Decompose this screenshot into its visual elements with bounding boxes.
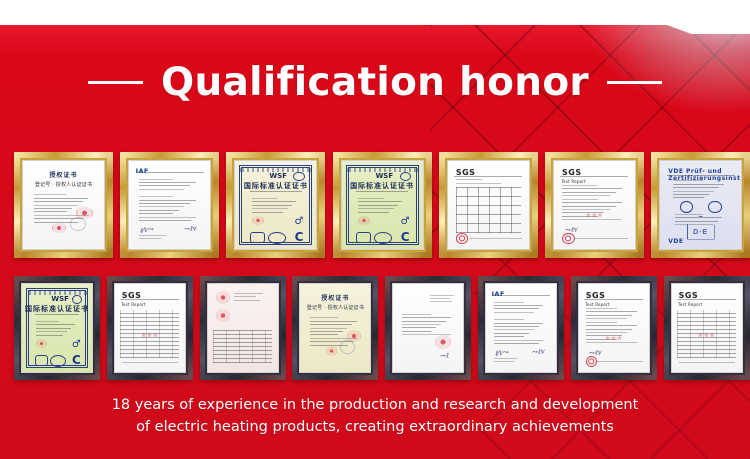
certificate-document: SGSTest Report★★★	[672, 284, 742, 372]
certificate-mat: SGS	[447, 160, 530, 250]
certificate-document	[208, 284, 278, 372]
certificate-thumbnail[interactable]: ⤳ℓ	[385, 276, 471, 380]
certificate-thumbnail[interactable]: WSF国际标准认证证书♂C	[333, 152, 432, 258]
certificate-thumbnail[interactable]: SGSTest Report★★★	[664, 276, 750, 380]
title-block: Qualification honor	[0, 55, 750, 110]
certificate-document: SGS	[448, 161, 529, 249]
certificate-document: VDE Prüf- und ZertifizierungsinstitutD⋅E…	[660, 161, 741, 249]
certificate-thumbnail[interactable]: IAFℓ⁄ᴠ⤳⤳ℓᴠ	[120, 152, 219, 258]
certificate-document: ⤳ℓ	[393, 284, 463, 372]
certificate-row-bottom: WSF国际标准认证证书♂CSGSTest Report★★★授权证书登记号 · …	[14, 276, 750, 380]
top-white-corner-cut	[570, 0, 750, 34]
certificate-document: WSF国际标准认证证书♂C	[22, 284, 92, 372]
subtitle-line-2: of electric heating products, creating e…	[0, 416, 750, 438]
certificate-thumbnail[interactable]: VDE Prüf- und ZertifizierungsinstitutD⋅E…	[651, 152, 750, 258]
certificate-document: 授权证书登记号 · 授权人认证证书	[300, 284, 370, 372]
certificate-mat: VDE Prüf- und ZertifizierungsinstitutD⋅E…	[659, 160, 742, 250]
certificate-thumbnail[interactable]: SGSTest Report★★★⤳ℓᴠ	[545, 152, 644, 258]
certificate-thumbnail[interactable]: WSF国际标准认证证书♂C	[14, 276, 100, 380]
certificate-document: WSF国际标准认证证书♂C	[235, 161, 316, 249]
certificate-mat: SGSTest Report★★★	[114, 283, 186, 373]
certificate-mat	[207, 283, 279, 373]
certificate-document: WSF国际标准认证证书♂C	[342, 161, 423, 249]
subtitle-block: 18 years of experience in the production…	[0, 394, 750, 438]
certificate-thumbnail[interactable]: SGSTest Report★★★	[107, 276, 193, 380]
certificate-thumbnail[interactable]: 授权证书登记号 · 授权人认证证书	[14, 152, 113, 258]
certificate-mat: 授权证书登记号 · 授权人认证证书	[299, 283, 371, 373]
certificate-document: SGSTest Report★★★⤳ℓᴠ	[554, 161, 635, 249]
page-title: Qualification honor	[161, 60, 589, 105]
title-rule-right	[607, 81, 662, 84]
certificate-document: 授权证书登记号 · 授权人认证证书	[23, 161, 104, 249]
certificate-mat: 授权证书登记号 · 授权人认证证书	[22, 160, 105, 250]
certificate-thumbnail[interactable]: SGS	[439, 152, 538, 258]
qualification-honor-banner: Qualification honor 授权证书登记号 · 授权人认证证书IAF…	[0, 0, 750, 459]
certificate-mat: IAFℓ⁄ᴠ⤳⤳ℓᴠ	[128, 160, 211, 250]
title-rule-left	[88, 81, 143, 84]
certificate-mat: WSF国际标准认证证书♂C	[21, 283, 93, 373]
certificate-mat: SGSTest Report★★★	[671, 283, 743, 373]
certificate-thumbnail[interactable]	[200, 276, 286, 380]
certificate-mat: WSF国际标准认证证书♂C	[234, 160, 317, 250]
certificate-thumbnail[interactable]: WSF国际标准认证证书♂C	[226, 152, 325, 258]
certificate-row-top: 授权证书登记号 · 授权人认证证书IAFℓ⁄ᴠ⤳⤳ℓᴠWSF国际标准认证证书♂C…	[14, 152, 750, 258]
certificate-document: IAFℓ⁄ᴠ⤳⤳ℓᴠ	[486, 284, 556, 372]
certificate-mat: WSF国际标准认证证书♂C	[341, 160, 424, 250]
subtitle-line-1: 18 years of experience in the production…	[0, 394, 750, 416]
certificate-thumbnail[interactable]: SGSTest Report★★★⤳ℓᴠ	[571, 276, 657, 380]
certificate-mat: SGSTest Report★★★⤳ℓᴠ	[553, 160, 636, 250]
certificate-mat: SGSTest Report★★★⤳ℓᴠ	[578, 283, 650, 373]
certificate-thumbnail[interactable]: IAFℓ⁄ᴠ⤳⤳ℓᴠ	[478, 276, 564, 380]
certificate-document: IAFℓ⁄ᴠ⤳⤳ℓᴠ	[129, 161, 210, 249]
certificate-mat: IAFℓ⁄ᴠ⤳⤳ℓᴠ	[485, 283, 557, 373]
certificate-document: SGSTest Report★★★⤳ℓᴠ	[579, 284, 649, 372]
certificate-thumbnail[interactable]: 授权证书登记号 · 授权人认证证书	[292, 276, 378, 380]
certificate-mat: ⤳ℓ	[392, 283, 464, 373]
certificate-document: SGSTest Report★★★	[115, 284, 185, 372]
